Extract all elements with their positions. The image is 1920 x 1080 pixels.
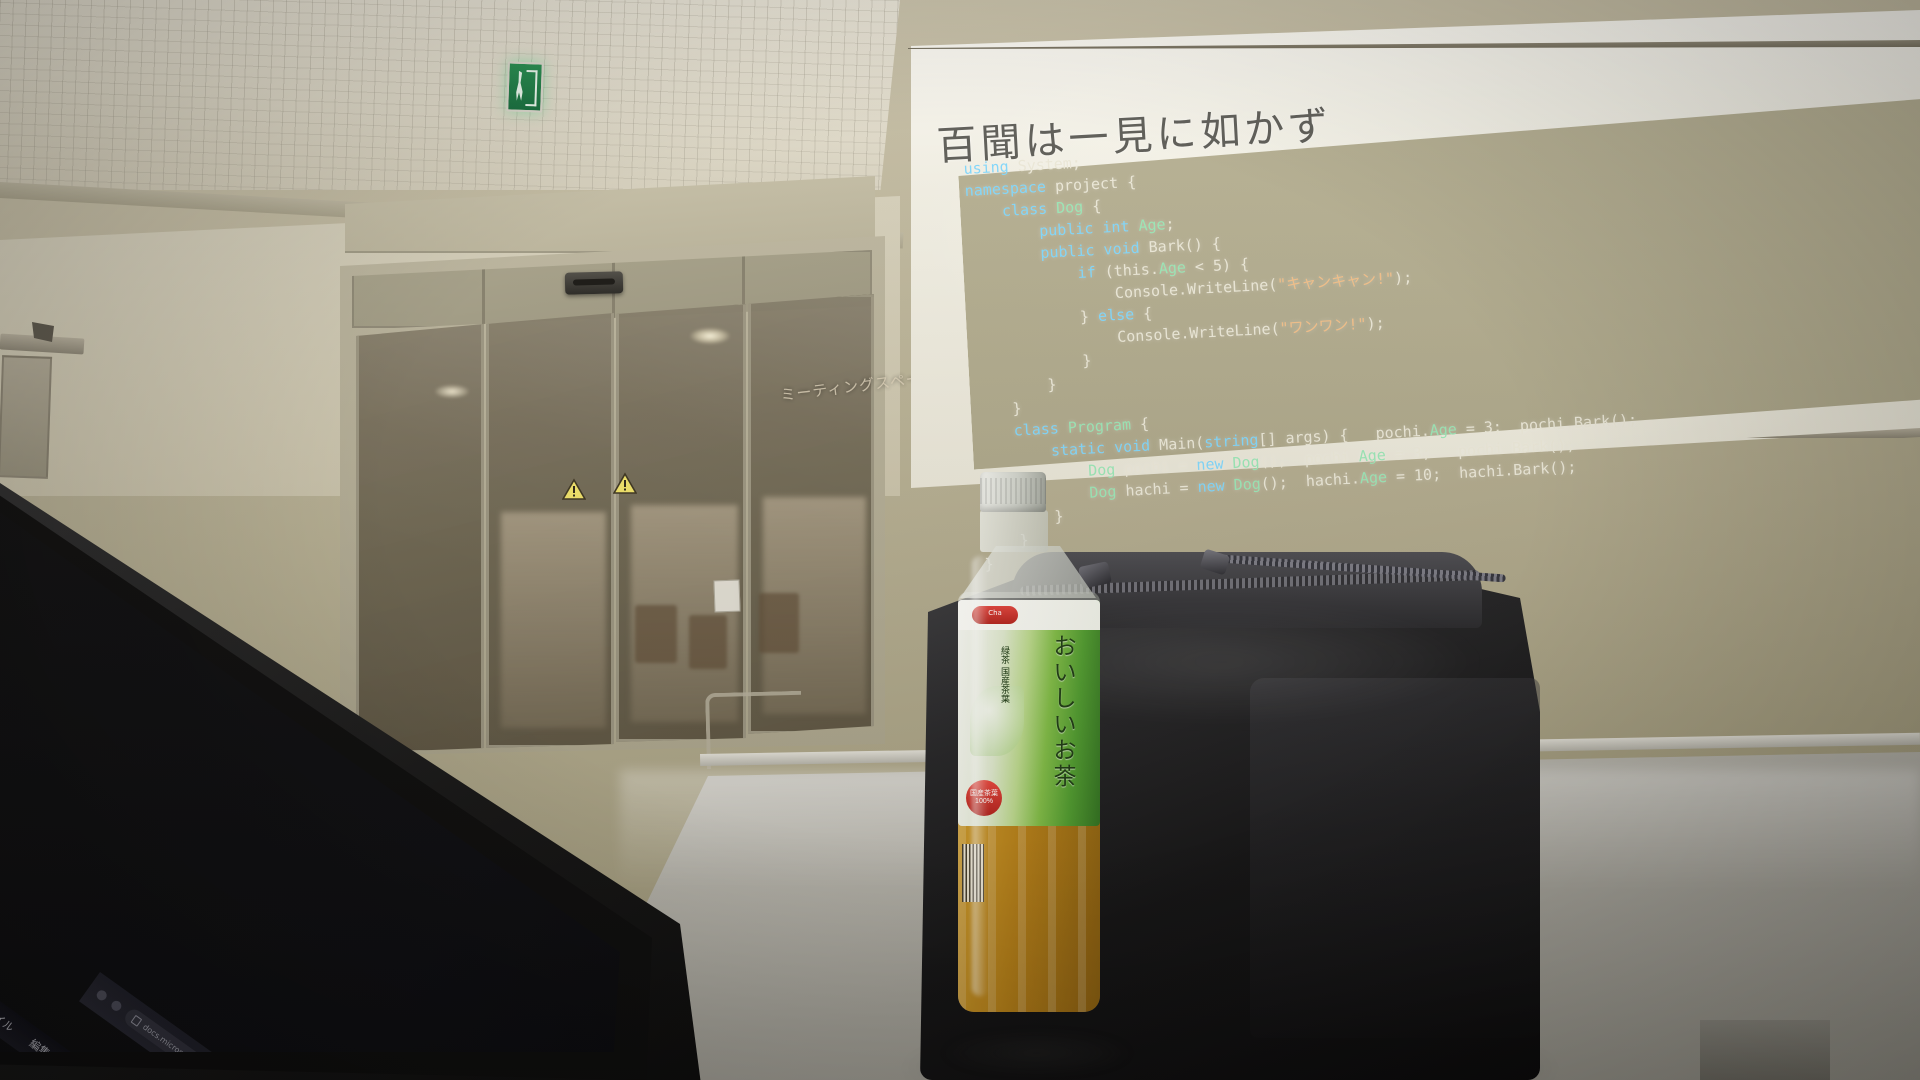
emergency-exit-sign-icon	[506, 61, 544, 112]
bag-front-panel	[1250, 678, 1540, 1038]
tea-bottle: Cha 緑茶 国産茶葉 お い し い お 茶 国産茶葉 100%	[950, 472, 1118, 1080]
forward-button[interactable]	[109, 999, 123, 1013]
menu-item-edit[interactable]: 編集	[26, 1035, 53, 1052]
glass-reflection	[751, 297, 871, 731]
glass-door-panel	[748, 294, 874, 734]
bottle-cap	[980, 472, 1046, 512]
bottle-highlight	[972, 556, 988, 996]
table-leg	[1700, 1020, 1830, 1080]
lock-icon	[131, 1014, 143, 1026]
running-man-glyph	[516, 71, 525, 101]
ceiling	[0, 0, 900, 190]
address-bar[interactable]: docs.microsoft.com/ja-jp/dotnet/api/syst…	[122, 1006, 641, 1052]
address-bar-url: docs.microsoft.com/ja-jp/dotnet/api/syst…	[141, 1022, 316, 1052]
exit-door-glyph	[525, 70, 537, 106]
browser-toolbar[interactable]: docs.microsoft.com/ja-jp/dotnet/api/syst…	[79, 972, 669, 1052]
photo-scene: ミーティングスペース 百聞は一見に如かず using System;namesp…	[0, 0, 1920, 1080]
ceiling-tile-grid	[0, 0, 900, 190]
label-product-name: お い し い お 茶	[1042, 634, 1088, 790]
ceiling-light-reflection	[435, 385, 469, 398]
bottle-shadow	[942, 1032, 1132, 1074]
ceiling-light-reflection	[690, 328, 730, 344]
laptop: ファイル 編集 表示 履歴 ブックマーク 開発 ウインドウ ヘルプ 4:39	[0, 452, 740, 1080]
projector-screen: 百聞は一見に如かず using System;namespace project…	[905, 10, 1920, 500]
menu-item-file[interactable]: ファイル	[0, 997, 18, 1036]
door-motion-sensor	[565, 271, 624, 294]
back-button[interactable]	[95, 988, 109, 1002]
docs-page: .NET Framework 4.8 System.Net.MailAltern…	[0, 1000, 546, 1052]
bottle-neck	[980, 510, 1048, 552]
